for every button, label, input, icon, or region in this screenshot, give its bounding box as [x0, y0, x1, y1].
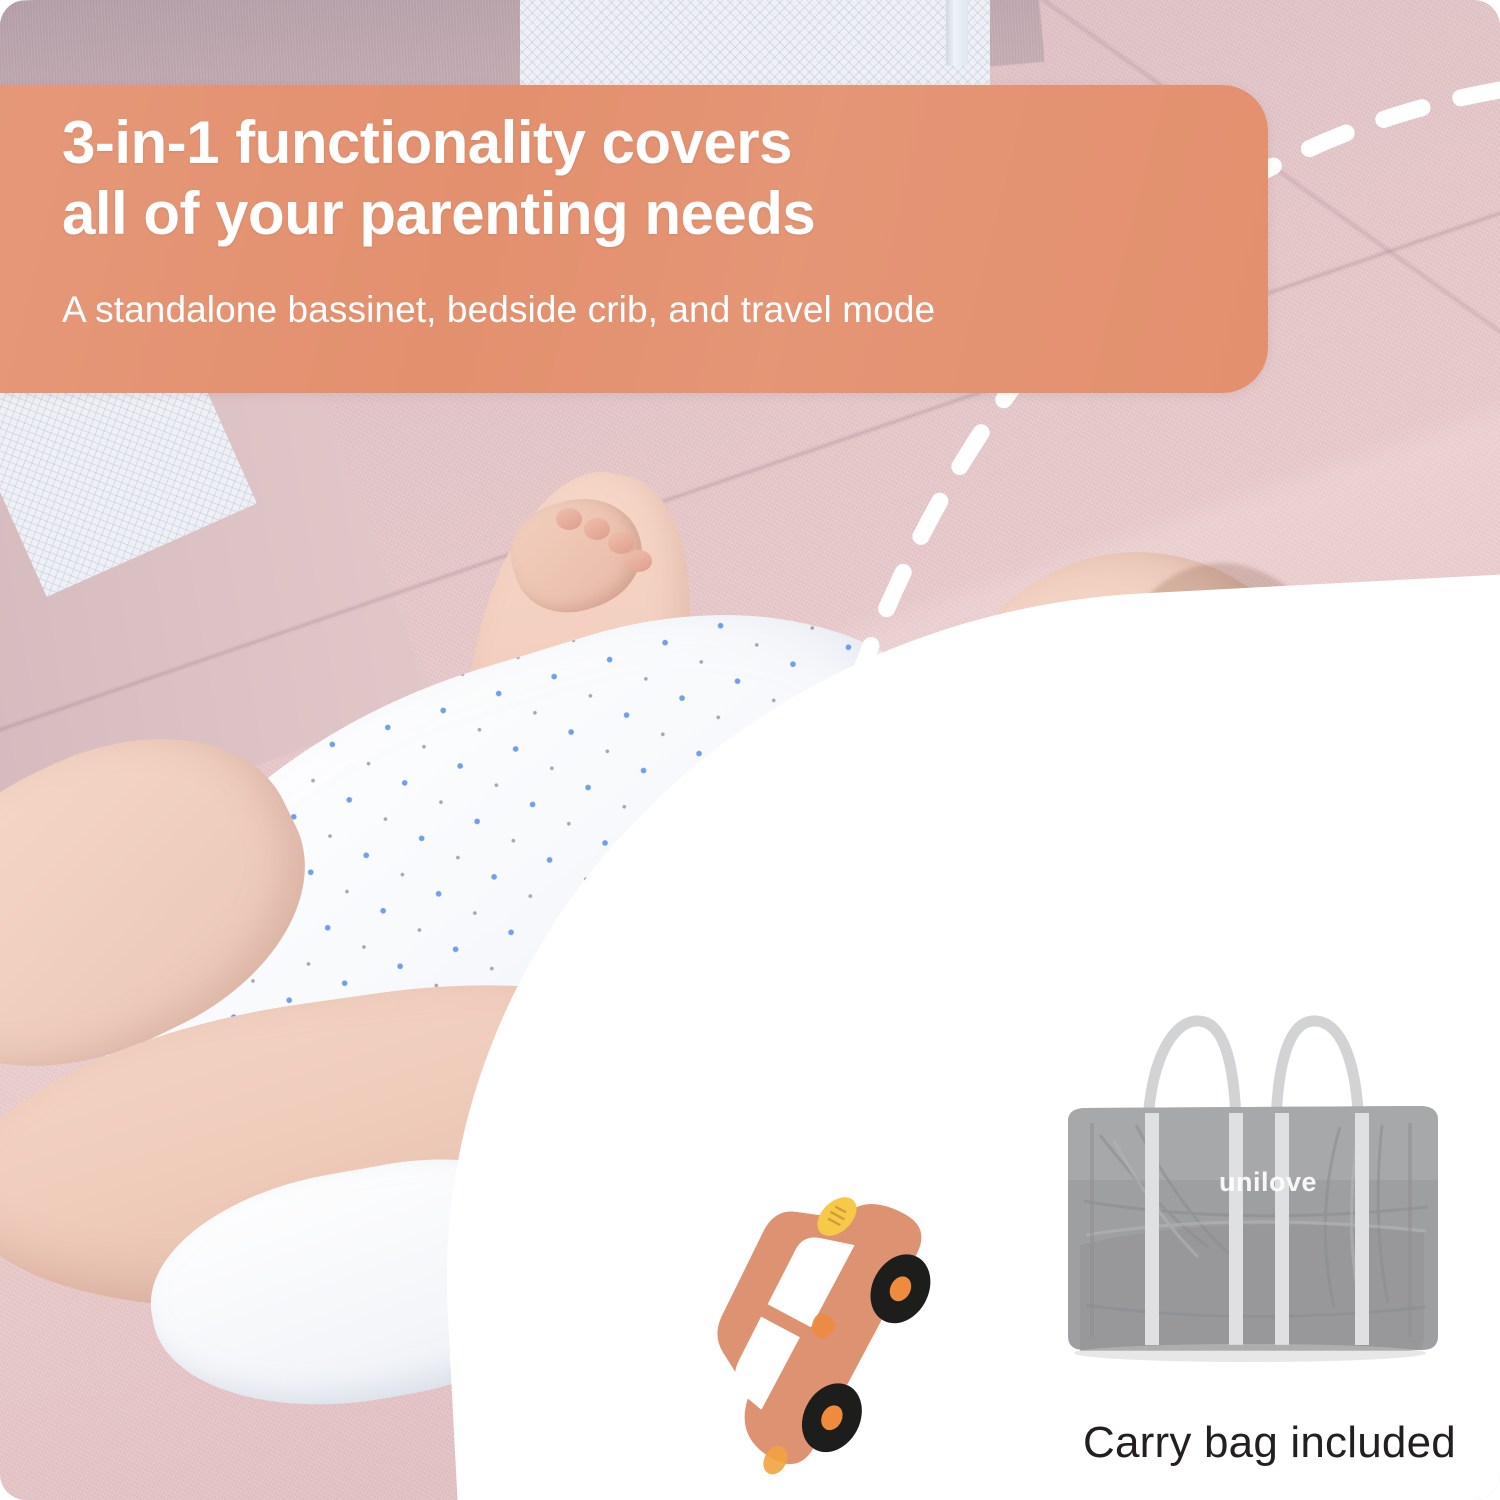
banner-subheadline: A standalone bassinet, bedside crib, and…: [62, 288, 935, 332]
carry-bag-caption: Carry bag included: [1083, 1418, 1456, 1468]
baby-toe: [584, 518, 610, 540]
bag-shadow: [1074, 1344, 1426, 1362]
baby-toe: [608, 532, 634, 554]
baby-toe: [626, 550, 652, 572]
carry-bag-icon: unilove: [1040, 1005, 1460, 1405]
unilove-logo: unilove: [1219, 1167, 1317, 1197]
feature-banner: 3-in-1 functionality covers all of your …: [0, 85, 1268, 393]
toy-car-icon: [690, 1190, 990, 1500]
banner-headline: 3-in-1 functionality covers all of your …: [62, 107, 815, 250]
product-feature-image: unilove 3-in-1 functionality covers all …: [0, 0, 1500, 1500]
baby-toe: [556, 508, 582, 530]
bag-lower-shade: [1080, 1224, 1424, 1351]
